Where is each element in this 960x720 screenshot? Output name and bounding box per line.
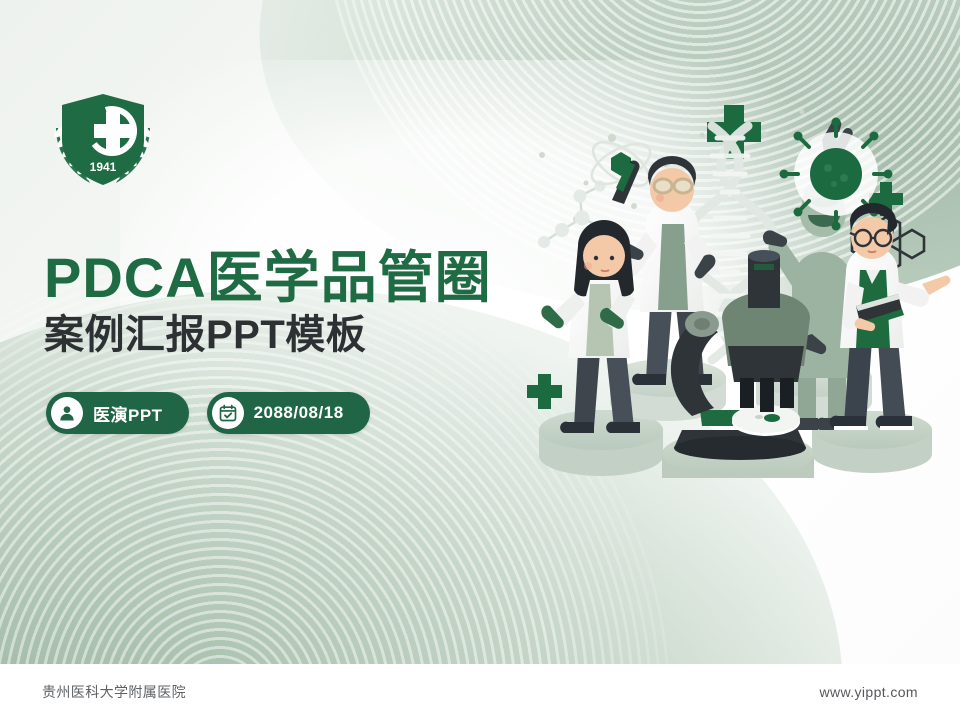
virus-cell-icon [780, 118, 893, 231]
meta-badges: 医演PPT 2088/08/18 [46, 392, 370, 434]
page-title: PDCA医学品管圈 [44, 248, 564, 307]
slide-footer: 贵州医科大学附属医院 www.yippt.com [0, 664, 960, 720]
footer-website: www.yippt.com [819, 684, 918, 700]
calendar-icon [212, 397, 244, 429]
date-badge[interactable]: 2088/08/18 [207, 392, 370, 434]
person-icon [51, 397, 83, 429]
hospital-logo: 1941 [44, 88, 162, 192]
author-badge[interactable]: 医演PPT [46, 392, 189, 434]
scientist-with-book-figure [830, 203, 951, 430]
logo-year: 1941 [90, 160, 117, 174]
title-block: PDCA医学品管圈 案例汇报PPT模板 [44, 248, 564, 357]
female-scientist-figure [541, 220, 640, 433]
page-subtitle: 案例汇报PPT模板 [44, 313, 564, 357]
medical-research-illustration [516, 78, 960, 480]
presentation-slide: 1941 PDCA医学品管圈 案例汇报PPT模板 医演PPT [0, 0, 960, 720]
date-label: 2088/08/18 [254, 403, 344, 423]
author-label: 医演PPT [93, 401, 163, 426]
footer-institution: 贵州医科大学附属医院 [42, 682, 186, 702]
